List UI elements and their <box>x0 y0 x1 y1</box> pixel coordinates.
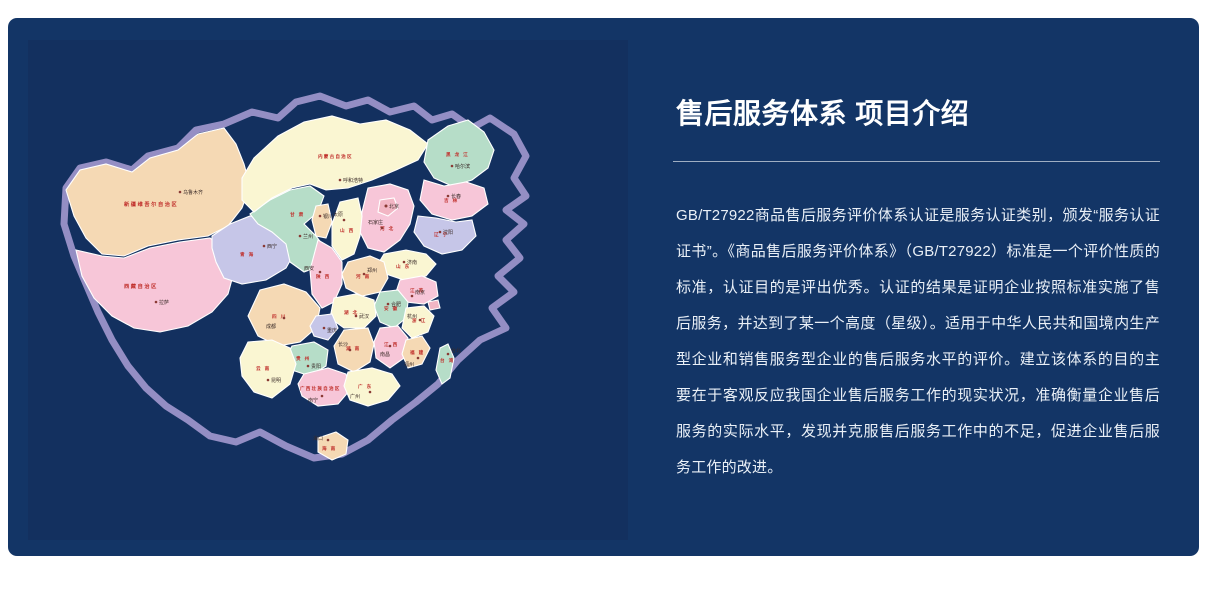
title-divider <box>673 161 1160 162</box>
label-xinjiang: 新疆维吾尔自治区 <box>124 200 178 208</box>
screenshot-root: .prov { stroke:#ffffff; stroke-width:1.1… <box>0 0 1207 607</box>
city-urumqi: 乌鲁木齐 <box>183 189 203 196</box>
label-henan: 河 南 <box>355 273 370 280</box>
china-administrative-map[interactable]: .prov { stroke:#ffffff; stroke-width:1.1… <box>28 40 628 540</box>
city-beijing: 北京 <box>389 203 399 210</box>
city-haikou: 海口 <box>313 435 323 442</box>
label-inner-mongolia: 内蒙古自治区 <box>318 153 353 160</box>
label-shanxi: 山 西 <box>340 227 354 234</box>
city-zhengzhou: 郑州 <box>367 267 377 274</box>
city-hangzhou: 杭州 <box>407 313 417 320</box>
city-xining: 西宁 <box>267 243 277 250</box>
city-fuzhou: 福州 <box>404 361 414 368</box>
label-tibet: 西藏自治区 <box>124 282 158 290</box>
city-jinan: 济南 <box>407 259 417 266</box>
label-yunnan: 云 南 <box>256 365 270 372</box>
city-wuhan: 武汉 <box>359 313 369 320</box>
city-changchun: 长春 <box>451 193 461 200</box>
city-nanchang: 南昌 <box>380 351 390 358</box>
label-jiangxi: 江 西 <box>384 341 398 348</box>
city-hefei: 合肥 <box>391 301 401 308</box>
city-lhasa: 拉萨 <box>159 299 169 306</box>
city-guiyang: 贵阳 <box>311 363 321 370</box>
city-lanzhou: 兰州 <box>303 233 313 240</box>
label-heilongjiang: 黑 龙 江 <box>446 151 469 158</box>
city-guangzhou: 广州 <box>350 393 360 400</box>
city-nanjing: 南京 <box>415 289 425 296</box>
label-qinghai: 青 海 <box>240 251 254 258</box>
city-taipei: 台北 <box>451 347 461 354</box>
label-fujian: 福 建 <box>409 349 424 356</box>
intro-paragraph: GB/T27922商品售后服务评价体系认证是服务认证类别，颁发“服务认证证书”。… <box>676 198 1160 486</box>
label-hunan: 湖 南 <box>346 345 360 352</box>
label-taiwan: 台 湾 <box>440 357 454 364</box>
city-harbin: 哈尔滨 <box>455 163 470 170</box>
city-changsha: 长沙 <box>338 341 348 348</box>
label-shaanxi: 陕 西 <box>316 273 330 280</box>
city-xian: 西安 <box>304 265 314 272</box>
label-gansu: 甘 肃 <box>290 211 304 218</box>
text-pane: 售后服务体系 项目介绍 GB/T27922商品售后服务评价体系认证是服务认证类别… <box>668 18 1199 556</box>
municipality-shanghai[interactable] <box>428 300 440 310</box>
map-pane: .prov { stroke:#ffffff; stroke-width:1.1… <box>8 18 648 556</box>
city-shenyang: 沈阳 <box>443 229 453 236</box>
city-kunming: 昆明 <box>271 378 281 384</box>
label-guangdong: 广 东 <box>358 383 372 390</box>
page-title: 售后服务体系 项目介绍 <box>676 97 969 131</box>
city-nanning: 南宁 <box>308 397 318 404</box>
content-panel: .prov { stroke:#ffffff; stroke-width:1.1… <box>8 18 1199 556</box>
city-chengdu: 成都 <box>266 323 276 330</box>
city-hohhot: 呼和浩特 <box>343 177 363 184</box>
label-guizhou: 贵 州 <box>296 355 310 362</box>
city-chongqing: 重庆 <box>327 327 337 334</box>
city-shijiazhuang: 石家庄 <box>368 219 383 226</box>
city-taiyuan: 太原 <box>333 211 343 218</box>
city-yinchuan: 银川 <box>323 213 333 220</box>
label-hainan: 海 南 <box>322 445 336 452</box>
label-guangxi: 广西壮族自治区 <box>300 385 341 392</box>
